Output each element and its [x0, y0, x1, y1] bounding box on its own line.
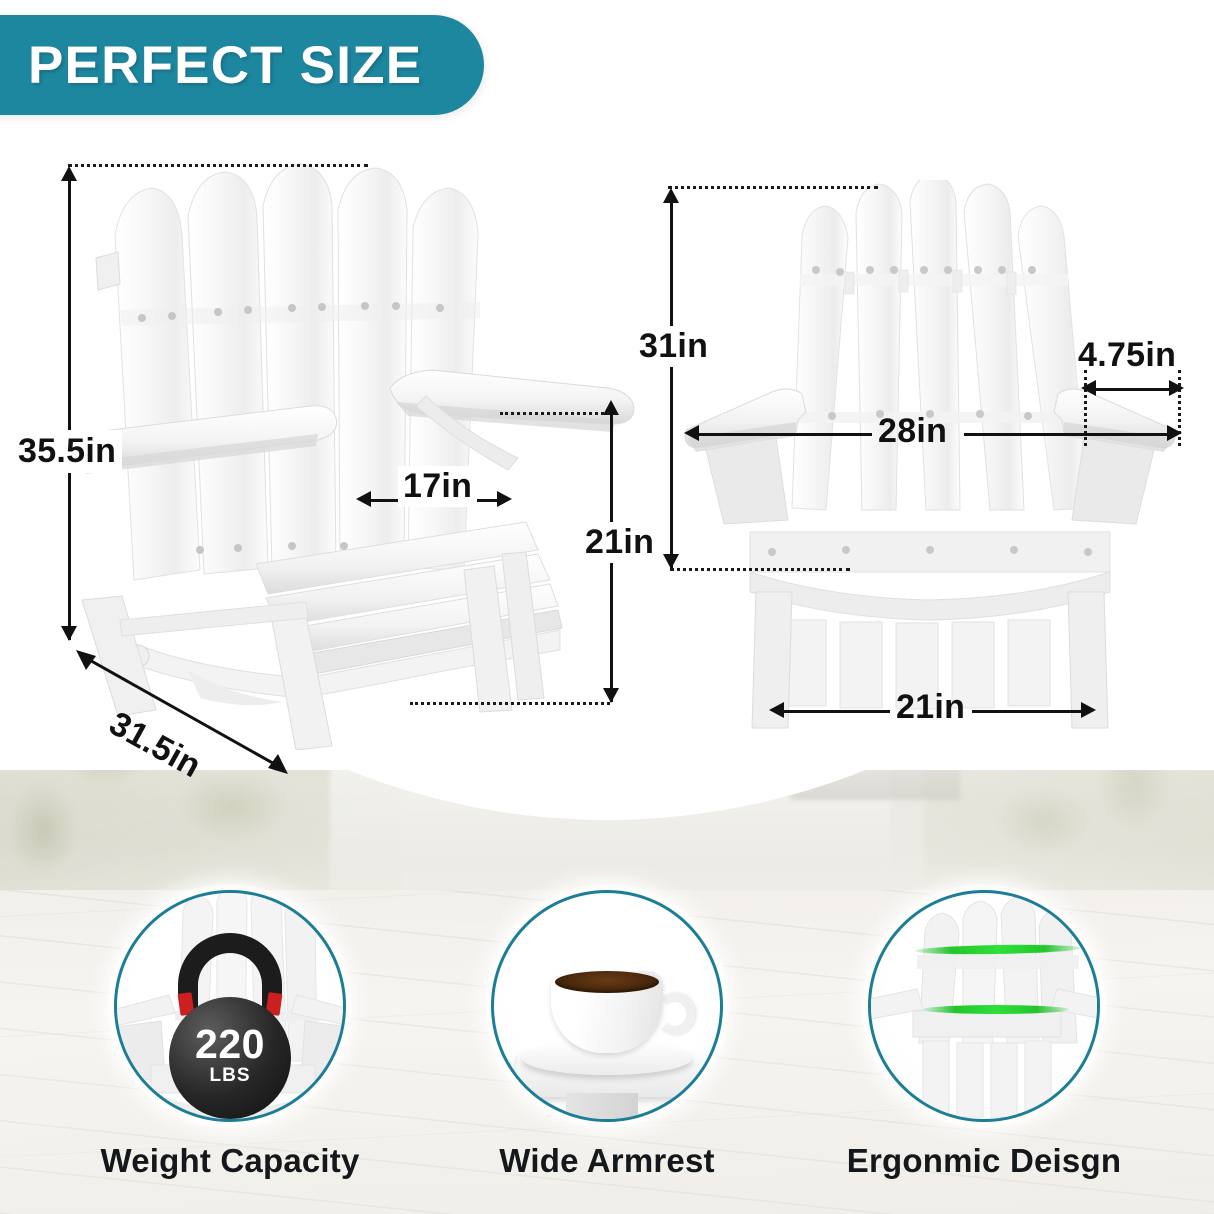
arrow-left-overall-width — [684, 425, 699, 441]
dimension-line-base-width-left — [780, 710, 890, 713]
feature-weight-capacity-caption: Weight Capacity — [60, 1142, 400, 1180]
feature-weight-capacity: 220 LBS Weight Capacity — [60, 890, 400, 1180]
dimension-label-seat-height: 21in — [580, 522, 659, 563]
feature-ergonomic-design-circle — [868, 890, 1100, 1122]
chair-right-armrest-left — [685, 389, 806, 524]
arrow-right-base-width — [1081, 702, 1096, 718]
guide-seat-height-top-dotted — [500, 412, 610, 415]
arrow-up-height-left — [61, 166, 77, 181]
header-banner: PERFECT SIZE — [0, 15, 484, 115]
arrow-right-seat-depth — [497, 491, 512, 507]
dimension-line-overall-width-left — [696, 433, 872, 436]
arrow-left-seat-depth — [356, 491, 371, 507]
arrow-down-height-left — [61, 626, 77, 641]
arrow-left-base-width — [769, 702, 784, 718]
guide-back-height-bottom-dotted — [670, 568, 850, 571]
dimension-label-armrest-width: 4.75in — [1078, 336, 1176, 375]
guide-seat-height-bottom-dotted — [410, 702, 610, 705]
chair-right-illustration — [680, 180, 1180, 760]
armrest-support-post — [566, 1093, 638, 1122]
weight-capacity-unit: LBS — [210, 1065, 251, 1087]
infographic-canvas: PERFECT SIZE — [0, 0, 1214, 1214]
arrow-up-back-height — [663, 188, 679, 203]
chair-right-back-slats — [792, 180, 1088, 510]
coffee-liquid — [555, 971, 659, 993]
guide-right-top-dotted — [668, 186, 878, 189]
feature-ergonomic-design: Ergonmic Deisgn — [814, 890, 1154, 1180]
dimension-label-seat-depth: 17in — [398, 466, 477, 507]
feature-wide-armrest-circle — [491, 890, 723, 1122]
arrow-right-armrest-width — [1169, 380, 1184, 396]
guide-left-top-dotted — [68, 164, 368, 167]
dimension-line-armrest-width — [1092, 388, 1172, 391]
feature-wide-armrest-caption: Wide Armrest — [437, 1142, 777, 1180]
dimension-label-height-left: 35.5in — [12, 430, 122, 473]
feature-wide-armrest: Wide Armrest — [437, 890, 777, 1180]
dimension-label-base-width: 21in — [896, 688, 965, 727]
chair-right-svg — [680, 180, 1180, 760]
dimension-label-overall-width: 28in — [878, 412, 947, 451]
ergonomic-curve-lower — [923, 1005, 1069, 1014]
weight-capacity-value: 220 — [195, 1021, 265, 1068]
dimension-line-back-height — [670, 200, 673, 568]
arrow-down-back-height — [663, 554, 679, 569]
arrow-left-armrest-width — [1081, 380, 1096, 396]
arrow-right-overall-width — [1167, 425, 1182, 441]
arrow-down-seat-height — [603, 688, 619, 703]
dimension-line-base-width-right — [972, 710, 1084, 713]
feature-weight-capacity-circle: 220 LBS — [114, 890, 346, 1122]
dimension-label-back-height: 31in — [634, 326, 713, 367]
dimension-line-overall-width-right — [964, 433, 1170, 436]
page-title: PERFECT SIZE — [28, 35, 422, 96]
feature-ergonomic-design-caption: Ergonmic Deisgn — [814, 1142, 1154, 1180]
dimension-line-height-left — [68, 178, 71, 640]
